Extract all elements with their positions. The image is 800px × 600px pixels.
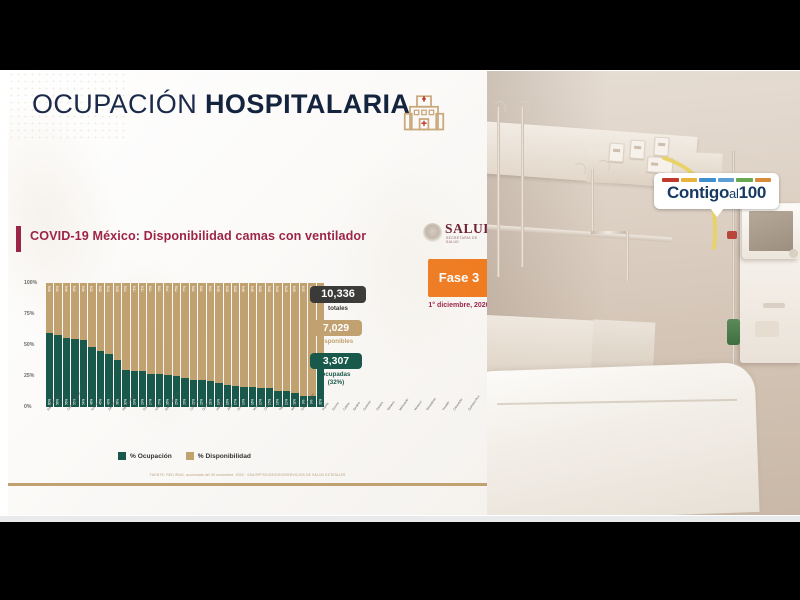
chart-y-tick-label: 0% bbox=[24, 404, 32, 410]
chart-x-axis-labels: Baja CaliforniaCiudad de MéxicoNuevo Leó… bbox=[46, 407, 324, 431]
chart-bar: 55%45% bbox=[97, 283, 104, 407]
chart-bar: 40%60% bbox=[46, 283, 53, 407]
chart-bar: 71%29% bbox=[131, 283, 138, 407]
logo-text-al: al bbox=[729, 186, 739, 201]
bar-disponibilidad-label: 84% bbox=[251, 285, 255, 292]
logo-color-bars bbox=[662, 178, 771, 182]
fase-label: Fase 3 bbox=[428, 270, 487, 285]
bar-disponibilidad-label: 55% bbox=[98, 285, 102, 292]
chart-y-tick-label: 75% bbox=[24, 311, 34, 317]
salud-wordmark: SALUD bbox=[445, 221, 487, 237]
chart-bar: 85%15% bbox=[257, 283, 264, 407]
chart-bar: 42%58% bbox=[54, 283, 61, 407]
stat-chip-totales: 10,336 bbox=[310, 286, 366, 303]
chart-bar: 78%22% bbox=[190, 283, 197, 407]
wall-socket bbox=[653, 136, 669, 156]
wall-pipe bbox=[626, 231, 629, 281]
legend-swatch bbox=[118, 452, 126, 460]
bar-disponibilidad-label: 85% bbox=[268, 285, 272, 292]
ventilator-humidifier bbox=[755, 321, 779, 337]
chart-bar: 79%21% bbox=[207, 283, 214, 407]
bar-disponibilidad-label: 62% bbox=[115, 285, 119, 292]
logo-color-bar bbox=[662, 178, 679, 182]
stat-chip-ocupadas: 3,307 bbox=[310, 353, 362, 369]
wall-socket bbox=[608, 142, 624, 162]
logo-color-bar bbox=[755, 178, 772, 182]
video-frame: OCUPACIÓN HOSPITALARIA bbox=[0, 70, 800, 522]
chart-bar: 45%55% bbox=[71, 283, 78, 407]
bar-disponibilidad-label: 70% bbox=[124, 285, 128, 292]
bar-disponibilidad-label: 46% bbox=[82, 285, 86, 292]
bar-disponibilidad-label: 42% bbox=[56, 285, 60, 292]
chart-bar: 75%25% bbox=[173, 283, 180, 407]
bar-disponibilidad-label: 83% bbox=[234, 285, 238, 292]
bed-mattress bbox=[487, 362, 760, 515]
bar-disponibilidad-label: 77% bbox=[183, 285, 187, 292]
bar-disponibilidad-label: 82% bbox=[225, 285, 229, 292]
logo-color-bar bbox=[736, 178, 753, 182]
chart-legend: % Ocupación% Disponibilidad bbox=[118, 452, 251, 460]
wall-pipe bbox=[497, 107, 500, 277]
bar-disponibilidad-label: 68% bbox=[318, 285, 322, 292]
bar-disponibilidad-label: 44% bbox=[65, 285, 69, 292]
bar-disponibilidad-label: 85% bbox=[259, 285, 263, 292]
mexico-eagle-emblem-icon bbox=[423, 223, 442, 242]
bar-ocupacion-label: 9% bbox=[310, 398, 314, 405]
stat-totales-value: 10,336 bbox=[310, 286, 366, 303]
chart-bar: 83%17% bbox=[232, 283, 239, 407]
stat-disponibles-value: 7,029 bbox=[310, 320, 362, 336]
chart-bar: 91%9% bbox=[308, 283, 315, 407]
chart-bar: 71%29% bbox=[139, 283, 146, 407]
bar-disponibilidad-label: 73% bbox=[149, 285, 153, 292]
contigo-al-100-logo: Contigoal100 bbox=[654, 173, 779, 209]
logo-bubble-tail bbox=[710, 208, 724, 217]
chart-subtitle: COVID-19 México: Disponibilidad camas co… bbox=[30, 229, 366, 243]
bar-ocupacion-segment: 32% bbox=[317, 367, 324, 407]
chart-bar: 46%54% bbox=[80, 283, 87, 407]
iv-hook-icon bbox=[493, 101, 506, 114]
ventilator-label-strip bbox=[763, 303, 785, 308]
bar-disponibilidad-label: 45% bbox=[73, 285, 77, 292]
bar-disponibilidad-label: 91% bbox=[310, 285, 314, 292]
ventilator-red-valve bbox=[727, 231, 737, 239]
stacked-bar-chart: 40%60%42%58%44%56%45%55%46%54%52%48%55%4… bbox=[24, 283, 324, 431]
iv-hook-icon bbox=[597, 160, 610, 173]
legend-item: % Disponibilidad bbox=[186, 452, 251, 460]
chart-bar: 44%56% bbox=[63, 283, 70, 407]
hospital-room-photo bbox=[487, 71, 800, 515]
bar-disponibilidad-label: 81% bbox=[217, 285, 221, 292]
bar-disponibilidad-label: 78% bbox=[191, 285, 195, 292]
chart-bar: 87%13% bbox=[283, 283, 290, 407]
bar-disponibilidad-label: 89% bbox=[293, 285, 297, 292]
bar-disponibilidad-label: 91% bbox=[301, 285, 305, 292]
page-title-light: OCUPACIÓN bbox=[32, 89, 205, 119]
legend-swatch bbox=[186, 452, 194, 460]
legend-item: % Ocupación bbox=[118, 452, 172, 460]
chart-bar: 57%43% bbox=[105, 283, 112, 407]
chart-plot-area: 40%60%42%58%44%56%45%55%46%54%52%48%55%4… bbox=[46, 283, 324, 407]
iv-hook-icon bbox=[573, 163, 586, 176]
fase-badge: Fase 3 bbox=[428, 259, 487, 297]
ventilator-knob bbox=[789, 249, 798, 258]
logo-color-bar bbox=[681, 178, 698, 182]
chart-y-tick-label: 100% bbox=[24, 280, 37, 286]
legend-label: % Ocupación bbox=[130, 453, 172, 460]
wall-pipe bbox=[521, 107, 524, 267]
wall-pipe bbox=[591, 231, 629, 234]
hospital-building-icon bbox=[403, 89, 445, 135]
chart-bar: 73%27% bbox=[156, 283, 163, 407]
bar-disponibilidad-label: 73% bbox=[158, 285, 162, 292]
chart-y-tick-label: 25% bbox=[24, 373, 34, 379]
bar-ocupacion-segment: 9% bbox=[308, 396, 315, 407]
stat-ocupadas-caption: ocupadas(32%) bbox=[308, 371, 364, 387]
bar-disponibilidad-label: 71% bbox=[132, 285, 136, 292]
subtitle-accent-bar bbox=[16, 226, 21, 252]
chart-bar: 68%32% bbox=[317, 283, 324, 407]
bar-disponibilidad-label: 52% bbox=[90, 285, 94, 292]
bar-disponibilidad-label: 87% bbox=[276, 285, 280, 292]
bar-ocupacion-segment: 60% bbox=[46, 333, 53, 407]
page-title-bold: HOSPITALARIA bbox=[205, 89, 410, 119]
logo-color-bar bbox=[699, 178, 716, 182]
bar-disponibilidad-label: 84% bbox=[242, 285, 246, 292]
video-frame-inner: OCUPACIÓN HOSPITALARIA bbox=[0, 70, 800, 516]
slide-footer-rule bbox=[8, 483, 487, 486]
chart-bar: 74%26% bbox=[164, 283, 171, 407]
fase-date: 1° diciembre, 2020 bbox=[423, 302, 487, 309]
chart-y-tick-label: 50% bbox=[24, 342, 34, 348]
salud-logo: SALUD SECRETARÍA DE SALUD bbox=[423, 221, 487, 247]
chart-bar: 73%27% bbox=[147, 283, 154, 407]
stat-totales-caption: totales bbox=[310, 305, 366, 312]
legend-label: % Disponibilidad bbox=[198, 453, 251, 460]
bar-disponibilidad-label: 74% bbox=[166, 285, 170, 292]
chart-bar: 70%30% bbox=[122, 283, 129, 407]
bar-disponibilidad-label: 75% bbox=[175, 285, 179, 292]
chart-bar: 78%22% bbox=[198, 283, 205, 407]
stat-chip-disponibles: 7,029 bbox=[310, 320, 362, 336]
stat-disponibles-caption: disponibles bbox=[308, 338, 364, 345]
chart-bar: 81%19% bbox=[215, 283, 222, 407]
chart-bar: 52%48% bbox=[88, 283, 95, 407]
bar-disponibilidad-label: 40% bbox=[48, 285, 52, 292]
chart-bar: 87%13% bbox=[274, 283, 281, 407]
chart-bar: 84%16% bbox=[240, 283, 247, 407]
bar-disponibilidad-label: 87% bbox=[284, 285, 288, 292]
bar-disponibilidad-label: 79% bbox=[208, 285, 212, 292]
salud-sublabel: SECRETARÍA DE SALUD bbox=[446, 236, 487, 244]
stat-ocupadas-pct: (32%) bbox=[328, 379, 345, 386]
presentation-slide: OCUPACIÓN HOSPITALARIA bbox=[8, 71, 487, 515]
chart-bar: 62%38% bbox=[114, 283, 121, 407]
chart-bar: 91%9% bbox=[300, 283, 307, 407]
slide-header: OCUPACIÓN HOSPITALARIA bbox=[8, 71, 487, 143]
wall-pipe bbox=[591, 169, 594, 235]
chart-bar: 85%15% bbox=[266, 283, 273, 407]
page-title: OCUPACIÓN HOSPITALARIA bbox=[32, 89, 410, 120]
bar-ocupacion-label: 32% bbox=[318, 398, 322, 405]
chart-source-note: FUENTE: RED IRAG, acumulado del 30 novie… bbox=[8, 473, 487, 477]
logo-text-main: Contigo bbox=[667, 183, 729, 202]
stat-ocupadas-caption-text: ocupadas bbox=[322, 371, 351, 378]
bar-ocupacion-segment: 43% bbox=[105, 354, 112, 407]
ventilator-green-bag bbox=[727, 319, 740, 345]
chart-bar: 82%18% bbox=[224, 283, 231, 407]
bar-disponibilidad-label: 71% bbox=[141, 285, 145, 292]
ventilator-monitor-screen bbox=[749, 211, 793, 251]
bar-disponibilidad-label: 78% bbox=[200, 285, 204, 292]
logo-text: Contigoal100 bbox=[654, 183, 779, 203]
wall-socket bbox=[629, 139, 645, 159]
stat-ocupadas-value: 3,307 bbox=[310, 353, 362, 369]
chart-bar: 84%16% bbox=[249, 283, 256, 407]
logo-color-bar bbox=[718, 178, 735, 182]
broadcast-screen: OCUPACIÓN HOSPITALARIA bbox=[0, 0, 800, 600]
chart-bar: 77%23% bbox=[181, 283, 188, 407]
chart-bar: 89%11% bbox=[291, 283, 298, 407]
logo-text-num: 100 bbox=[739, 183, 766, 202]
bar-disponibilidad-label: 57% bbox=[107, 285, 111, 292]
bar-ocupacion-segment: 56% bbox=[63, 338, 70, 407]
iv-hook-icon bbox=[517, 101, 530, 114]
